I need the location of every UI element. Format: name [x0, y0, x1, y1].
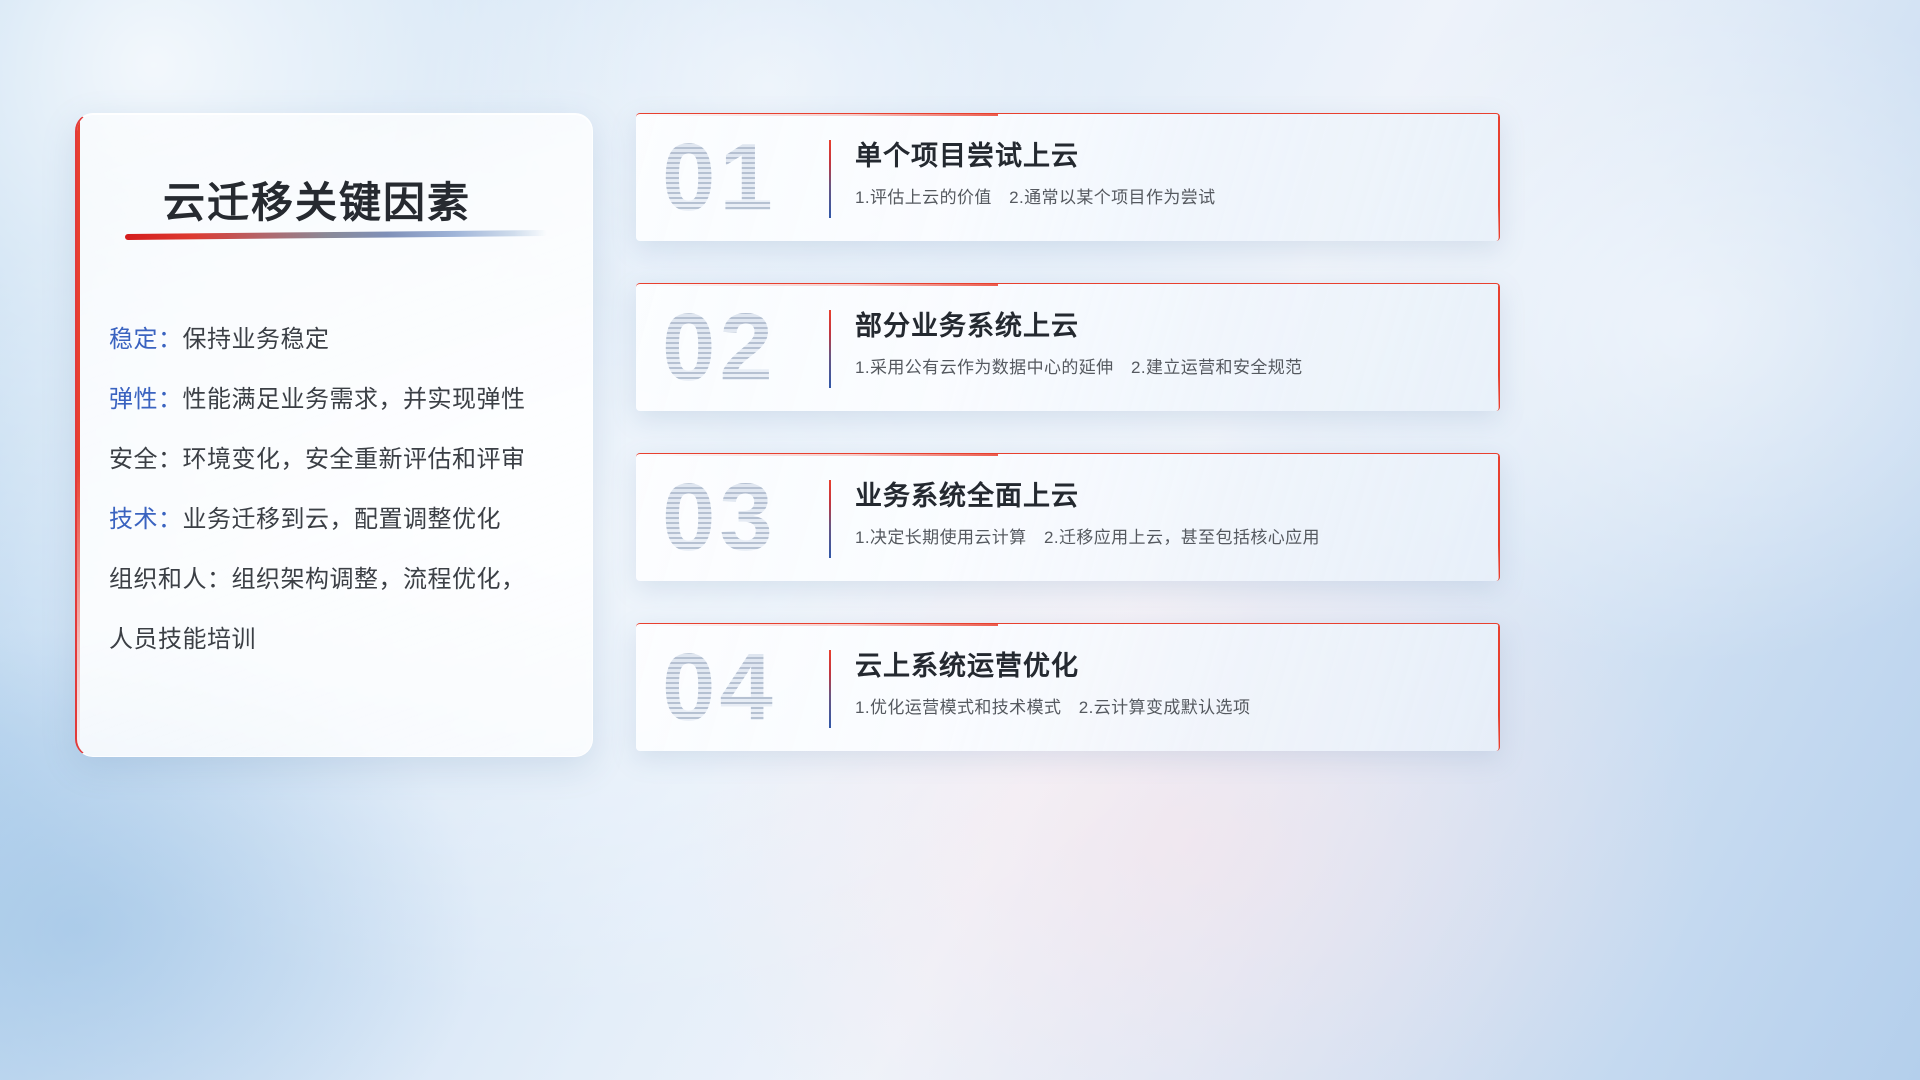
- step-description: 1.采用公有云作为数据中心的延伸 2.建立运营和安全规范: [855, 355, 1475, 381]
- step-divider-accent: [829, 310, 831, 388]
- list-item-label: 技术：: [109, 506, 183, 533]
- step-number: 03: [662, 462, 777, 574]
- step-card-01[interactable]: 01 单个项目尝试上云 1.评估上云的价值 2.通常以某个项目作为尝试: [636, 113, 1500, 241]
- step-content: 云上系统运营优化 1.优化运营模式和技术模式 2.云计算变成默认选项: [855, 646, 1475, 721]
- step-number: 01: [662, 122, 777, 234]
- step-content: 单个项目尝试上云 1.评估上云的价值 2.通常以某个项目作为尝试: [855, 136, 1475, 211]
- step-card-04[interactable]: 04 云上系统运营优化 1.优化运营模式和技术模式 2.云计算变成默认选项: [636, 623, 1500, 751]
- list-item-text: 环境变化，安全重新评估和评审: [183, 446, 526, 473]
- list-item: 技术：业务迁移到云，配置调整优化: [109, 490, 574, 550]
- step-card-03[interactable]: 03 业务系统全面上云 1.决定长期使用云计算 2.迁移应用上云，甚至包括核心应…: [636, 453, 1500, 581]
- title-underline-accent: [125, 230, 547, 240]
- key-factors-list: 稳定：保持业务稳定 弹性：性能满足业务需求，并实现弹性 安全：环境变化，安全重新…: [109, 310, 574, 670]
- step-content: 部分业务系统上云 1.采用公有云作为数据中心的延伸 2.建立运营和安全规范: [855, 306, 1475, 381]
- list-item-label: 弹性：: [109, 386, 183, 413]
- step-description: 1.决定长期使用云计算 2.迁移应用上云，甚至包括核心应用: [855, 525, 1475, 551]
- list-item-label: 安全：: [109, 446, 183, 473]
- list-item-text: 组织架构调整，流程优化，: [232, 566, 526, 593]
- step-title: 业务系统全面上云: [855, 476, 1475, 516]
- step-title: 单个项目尝试上云: [855, 136, 1475, 176]
- list-item-label: 组织和人：: [109, 566, 232, 593]
- list-item-label: 稳定：: [109, 326, 183, 353]
- step-card-02[interactable]: 02 部分业务系统上云 1.采用公有云作为数据中心的延伸 2.建立运营和安全规范: [636, 283, 1500, 411]
- step-divider-accent: [829, 650, 831, 728]
- step-content: 业务系统全面上云 1.决定长期使用云计算 2.迁移应用上云，甚至包括核心应用: [855, 476, 1475, 551]
- list-item: 安全：环境变化，安全重新评估和评审: [109, 430, 574, 490]
- list-item: 人员技能培训: [109, 610, 574, 670]
- key-factors-panel: 云迁移关键因素 稳定：保持业务稳定 弹性：性能满足业务需求，并实现弹性 安全：环…: [75, 113, 593, 757]
- step-number: 04: [662, 632, 777, 744]
- list-item-text: 保持业务稳定: [183, 326, 330, 353]
- list-item: 弹性：性能满足业务需求，并实现弹性: [109, 370, 574, 430]
- list-item-text: 性能满足业务需求，并实现弹性: [183, 386, 526, 413]
- step-description: 1.评估上云的价值 2.通常以某个项目作为尝试: [855, 185, 1475, 211]
- slide-stage: 云迁移关键因素 稳定：保持业务稳定 弹性：性能满足业务需求，并实现弹性 安全：环…: [0, 0, 1920, 1080]
- list-item-text: 人员技能培训: [109, 626, 256, 653]
- panel-title: 云迁移关键因素: [163, 169, 471, 230]
- step-title: 云上系统运营优化: [855, 646, 1475, 686]
- step-divider-accent: [829, 480, 831, 558]
- step-number: 02: [662, 292, 777, 404]
- step-title: 部分业务系统上云: [855, 306, 1475, 346]
- migration-steps-list: 01 单个项目尝试上云 1.评估上云的价值 2.通常以某个项目作为尝试 02 部…: [636, 113, 1500, 793]
- list-item: 稳定：保持业务稳定: [109, 310, 574, 370]
- step-description: 1.优化运营模式和技术模式 2.云计算变成默认选项: [855, 695, 1475, 721]
- list-item: 组织和人：组织架构调整，流程优化，: [109, 550, 574, 610]
- step-divider-accent: [829, 140, 831, 218]
- list-item-text: 业务迁移到云，配置调整优化: [183, 506, 502, 533]
